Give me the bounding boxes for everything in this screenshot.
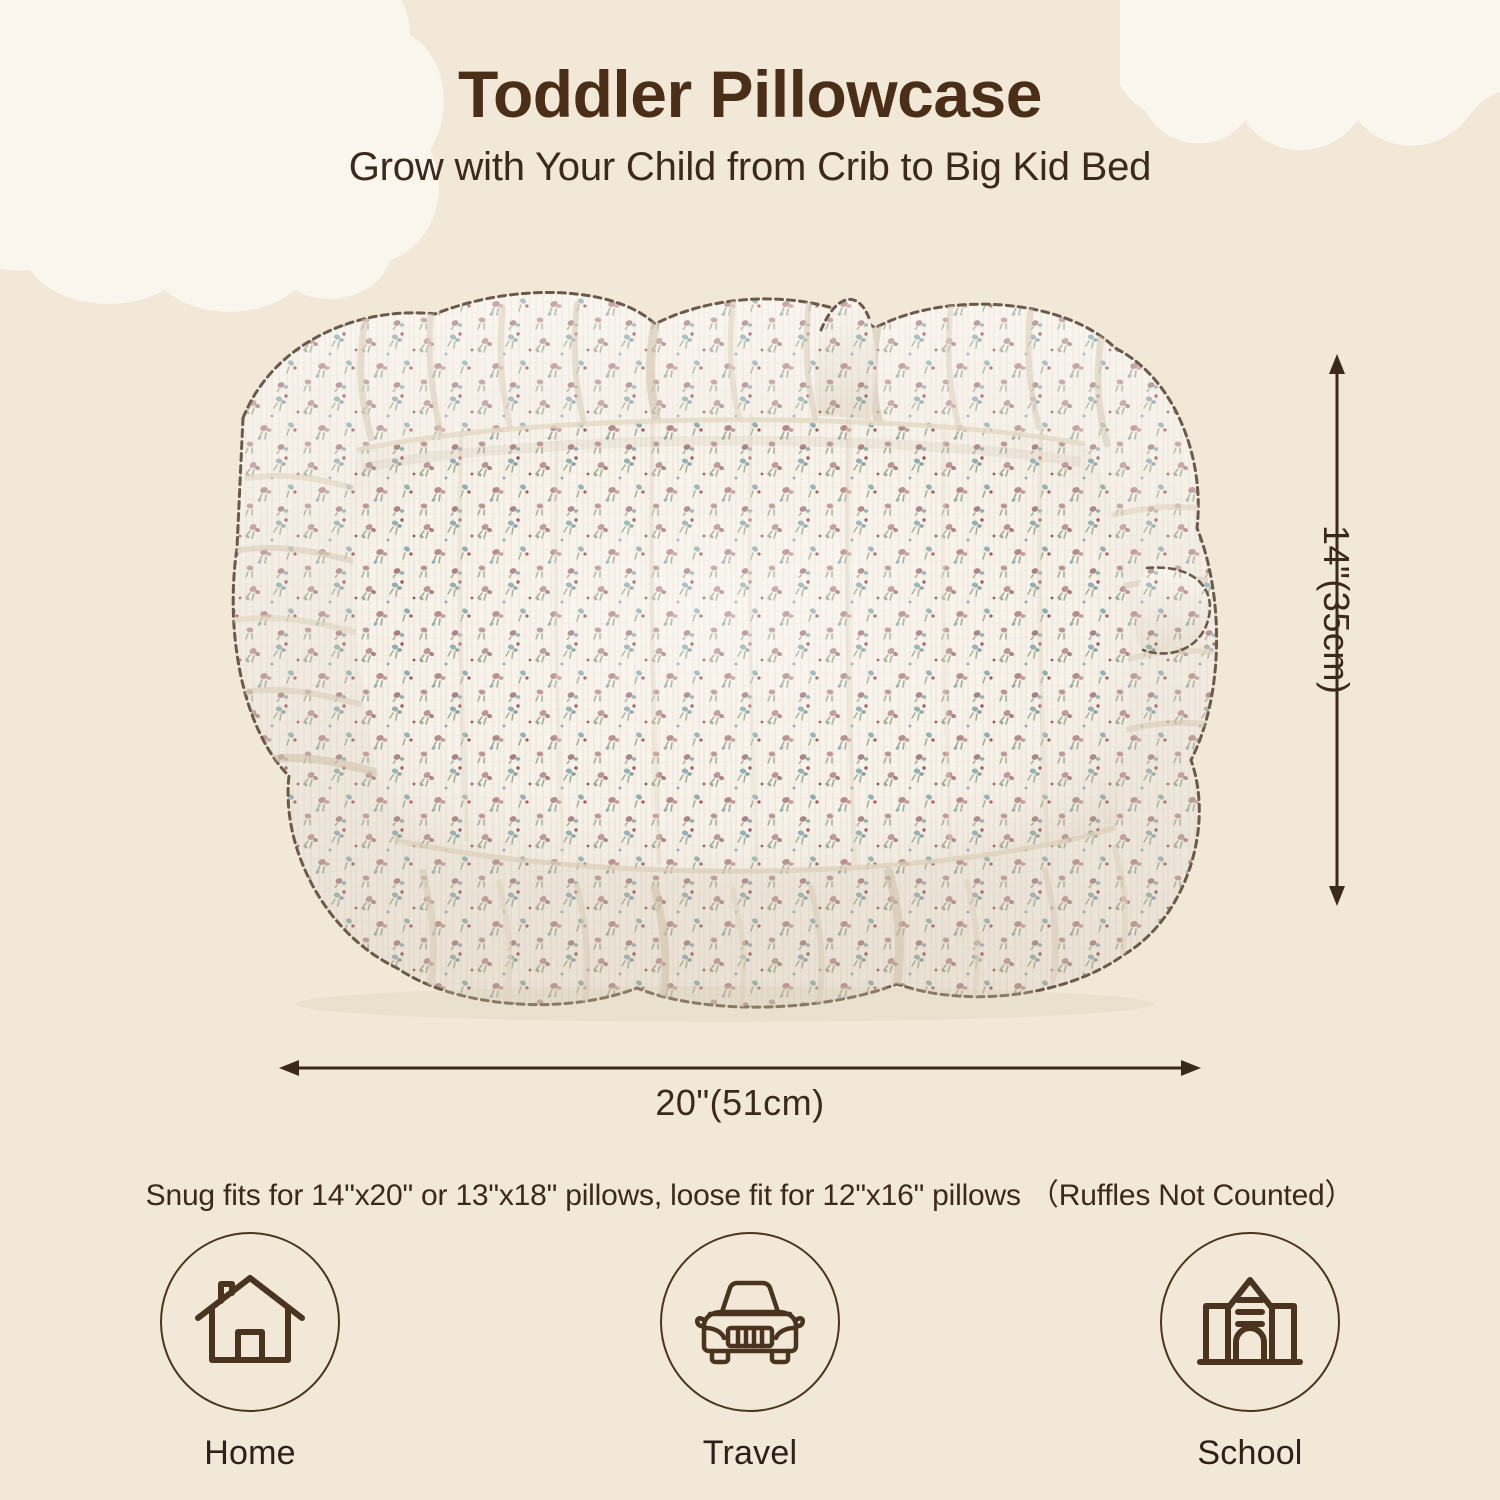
page-subtitle: Grow with Your Child from Crib to Big Ki… xyxy=(0,145,1500,190)
page-title: Toddler Pillowcase xyxy=(0,58,1500,131)
height-dimension: 14"(35cm) xyxy=(1305,350,1435,910)
house-icon xyxy=(194,1272,306,1372)
use-case-school[interactable]: School xyxy=(1100,1232,1400,1473)
use-case-label: School xyxy=(1100,1434,1400,1473)
use-case-label: Travel xyxy=(600,1434,900,1473)
height-label: 14"(35cm) xyxy=(1315,525,1357,694)
travel-icon-circle xyxy=(660,1232,840,1412)
car-icon xyxy=(690,1276,810,1368)
product-image xyxy=(185,268,1245,1028)
infographic-canvas: Toddler Pillowcase Grow with Your Child … xyxy=(0,0,1500,1500)
fit-note: Snug fits for 14"x20" or 13"x18" pillows… xyxy=(0,1170,1500,1214)
home-icon-circle xyxy=(160,1232,340,1412)
use-case-travel[interactable]: Travel xyxy=(600,1232,900,1473)
school-building-icon xyxy=(1194,1270,1306,1374)
header-block: Toddler Pillowcase Grow with Your Child … xyxy=(0,58,1500,190)
school-icon-circle xyxy=(1160,1232,1340,1412)
width-dimension: 20"(51cm) xyxy=(275,1048,1205,1138)
use-case-home[interactable]: Home xyxy=(100,1232,400,1473)
use-case-label: Home xyxy=(100,1434,400,1473)
pillow-face xyxy=(353,416,1128,871)
use-case-row: Home xyxy=(100,1232,1400,1473)
width-label: 20"(51cm) xyxy=(275,1082,1205,1124)
